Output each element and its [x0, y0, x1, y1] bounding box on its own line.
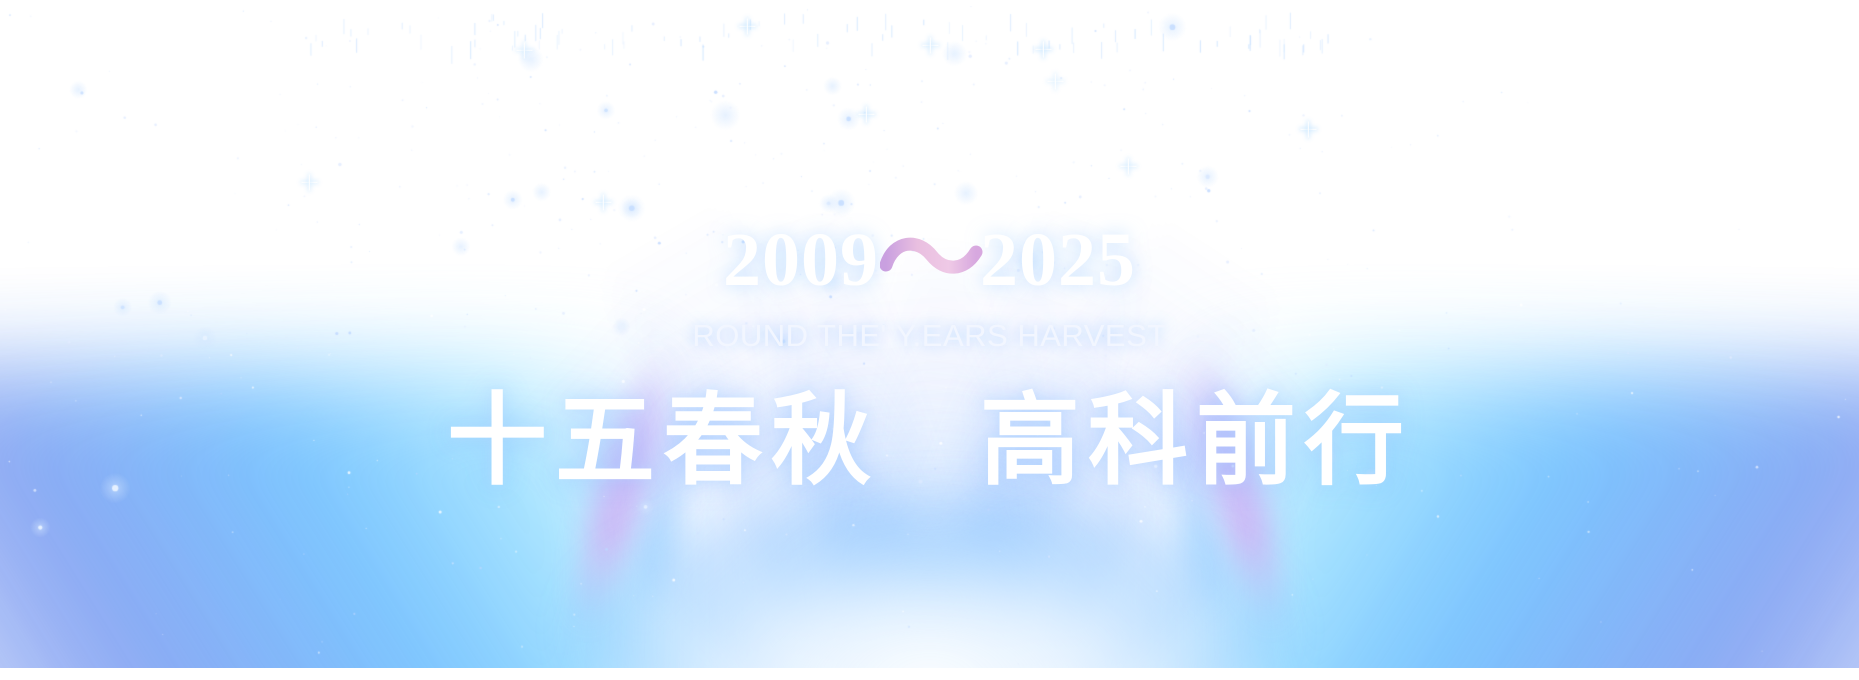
anniversary-banner: 2009 2025 ROUND THE' Y.EARS HARV [0, 0, 1859, 680]
banner-subtitle: ROUND THE' Y.EARS HARVEST [0, 318, 1859, 354]
banner-content: 2009 2025 ROUND THE' Y.EARS HARV [0, 0, 1859, 680]
start-year: 2009 [723, 218, 879, 302]
year-range: 2009 2025 [0, 222, 1859, 298]
slogan-left: 十五春秋 [447, 382, 879, 499]
bottom-white-band [0, 668, 1859, 680]
banner-slogan: 十五春秋 高科前行 [0, 388, 1859, 493]
end-year: 2025 [980, 218, 1136, 302]
top-white-band [0, 0, 1859, 6]
slogan-right: 高科前行 [980, 382, 1412, 499]
wave-tilde-icon [884, 230, 976, 290]
